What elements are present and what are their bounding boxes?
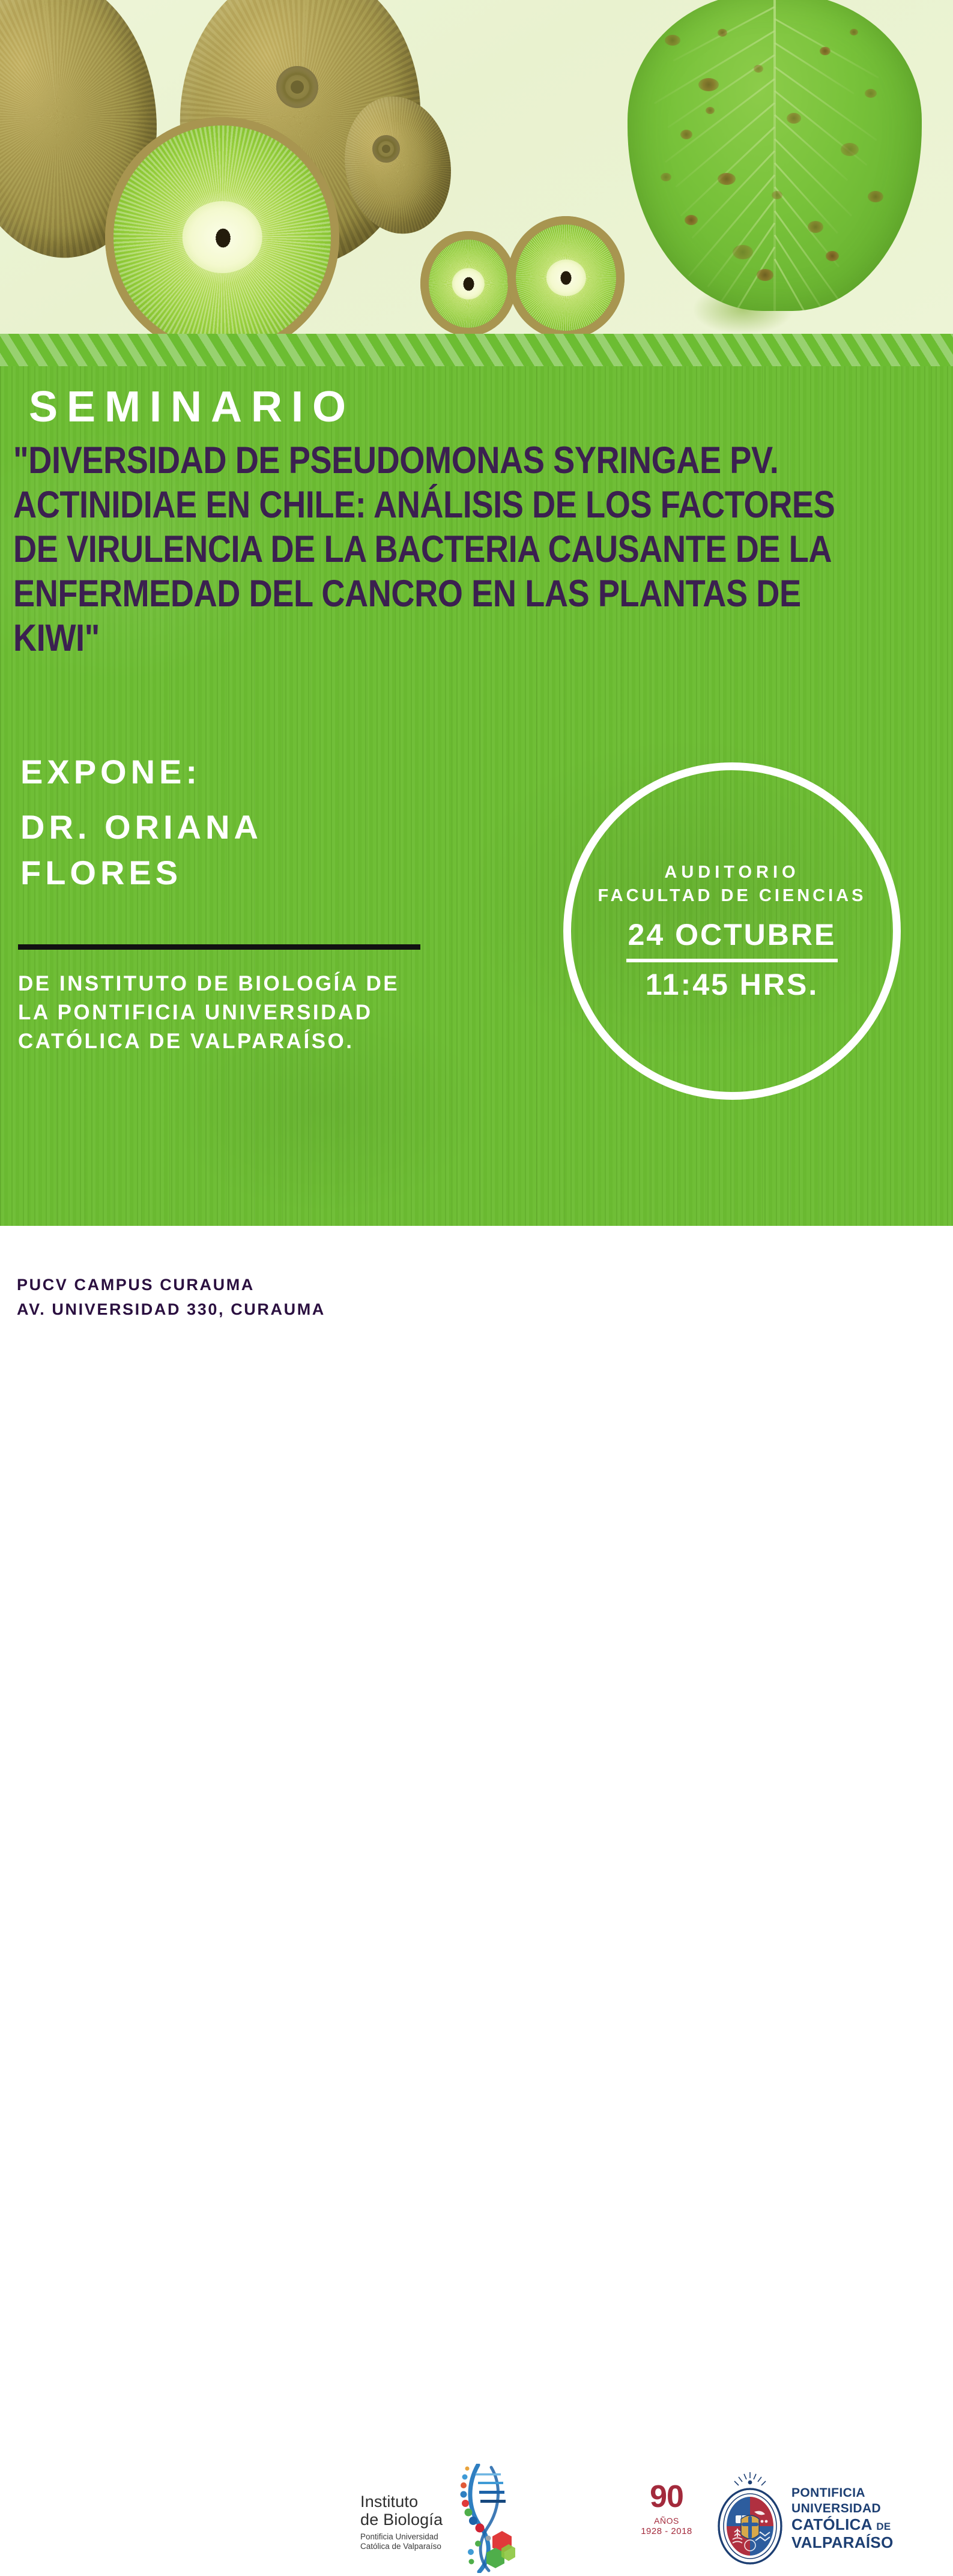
pucv-shield-icon bbox=[715, 2469, 785, 2568]
seminar-kicker: SEMINARIO bbox=[29, 385, 355, 429]
speaker-name-line: FLORES bbox=[20, 850, 262, 896]
speaker-name: DR. ORIANA FLORES bbox=[20, 804, 262, 896]
green-body: SEMINARIO "DIVERSIDAD DE PSEUDOMONAS SYR… bbox=[0, 366, 953, 1226]
event-details-badge: AUDITORIO FACULTAD DE CIENCIAS 24 OCTUBR… bbox=[563, 762, 901, 1100]
instituto-biologia-wordmark: Instituto de Biología Pontificia Univers… bbox=[360, 2493, 464, 2551]
kiwi-seeds bbox=[429, 240, 508, 328]
title-line: KIWI" bbox=[13, 616, 746, 660]
event-date: 24 OCTUBRE bbox=[628, 918, 837, 952]
footer: PUCV CAMPUS CURAUMA AV. UNIVERSIDAD 330,… bbox=[0, 1226, 953, 1348]
anniversary-number: 90 bbox=[631, 2482, 703, 2512]
pucv-line-2: UNIVERSIDAD bbox=[791, 2501, 894, 2517]
ib-line-4: Católica de Valparaíso bbox=[360, 2542, 464, 2551]
seminar-poster: SEMINARIO "DIVERSIDAD DE PSEUDOMONAS SYR… bbox=[0, 0, 953, 1348]
header-photo bbox=[0, 0, 953, 336]
address-line: AV. UNIVERSIDAD 330, CURAUMA bbox=[17, 1297, 325, 1322]
speaker-affiliation: DE INSTITUTO DE BIOLOGÍA DE LA PONTIFICI… bbox=[18, 970, 399, 1056]
leaf-midrib bbox=[773, 0, 776, 311]
instituto-biologia-logo: Instituto de Biología Pontificia Univers… bbox=[360, 2464, 515, 2573]
pucv-line-3: CATÓLICA DE bbox=[791, 2517, 894, 2535]
diseased-kiwi-leaf bbox=[628, 0, 922, 311]
pucv-line-4: VALPARAÍSO bbox=[791, 2535, 894, 2550]
venue-address: PUCV CAMPUS CURAUMA AV. UNIVERSIDAD 330,… bbox=[17, 1273, 325, 1322]
ib-line-3: Pontificia Universidad bbox=[360, 2532, 464, 2542]
kiwi-half-small-b bbox=[507, 216, 625, 336]
ib-line-2: de Biología bbox=[360, 2511, 464, 2529]
striped-divider bbox=[0, 334, 953, 367]
title-line: "DIVERSIDAD DE PSEUDOMONAS SYRINGAE PV. bbox=[13, 438, 746, 483]
event-time: 11:45 HRS. bbox=[646, 968, 818, 1001]
badge-divider-rule bbox=[626, 959, 838, 962]
affiliation-line: DE INSTITUTO DE BIOLOGÍA DE bbox=[18, 970, 399, 998]
seminar-title: "DIVERSIDAD DE PSEUDOMONAS SYRINGAE PV. … bbox=[13, 438, 746, 660]
address-line: PUCV CAMPUS CURAUMA bbox=[17, 1273, 325, 1297]
speaker-name-line: DR. ORIANA bbox=[20, 804, 262, 850]
kiwi-stem-icon bbox=[276, 66, 318, 108]
venue-line-1: AUDITORIO bbox=[664, 861, 799, 884]
kiwi-half-small-a bbox=[420, 231, 516, 336]
anniversary-label: AÑOS bbox=[631, 2515, 703, 2526]
affiliation-line: CATÓLICA DE VALPARAÍSO. bbox=[18, 1027, 399, 1056]
kiwi-seeds bbox=[516, 225, 616, 331]
speaker-label: EXPONE: bbox=[20, 755, 201, 789]
pucv-wordmark: PONTIFICIA UNIVERSIDAD CATÓLICA DE VALPA… bbox=[791, 2485, 894, 2550]
ib-line-1: Instituto bbox=[360, 2493, 464, 2511]
affiliation-line: LA PONTIFICIA UNIVERSIDAD bbox=[18, 998, 399, 1027]
pucv-line-3-main: CATÓLICA bbox=[791, 2515, 872, 2533]
venue-line-2: FACULTAD DE CIENCIAS bbox=[598, 884, 867, 908]
pucv-line-3-de: DE bbox=[876, 2521, 891, 2532]
anniversary-90-logo: 90 AÑOS 1928 - 2018 bbox=[631, 2482, 703, 2537]
anniversary-years: 1928 - 2018 bbox=[631, 2526, 703, 2537]
title-line: DE VIRULENCIA DE LA BACTERIA CAUSANTE DE… bbox=[13, 527, 746, 572]
title-line: ACTINIDIAE EN CHILE: ANÁLISIS DE LOS FAC… bbox=[13, 483, 746, 527]
pucv-line-1: PONTIFICIA bbox=[791, 2485, 894, 2501]
kiwi-seeds bbox=[113, 125, 331, 336]
kiwi-stem-small-icon bbox=[372, 135, 400, 163]
title-line: ENFERMEDAD DEL CANCRO EN LAS PLANTAS DE bbox=[13, 572, 746, 616]
speaker-divider-rule bbox=[18, 944, 420, 950]
